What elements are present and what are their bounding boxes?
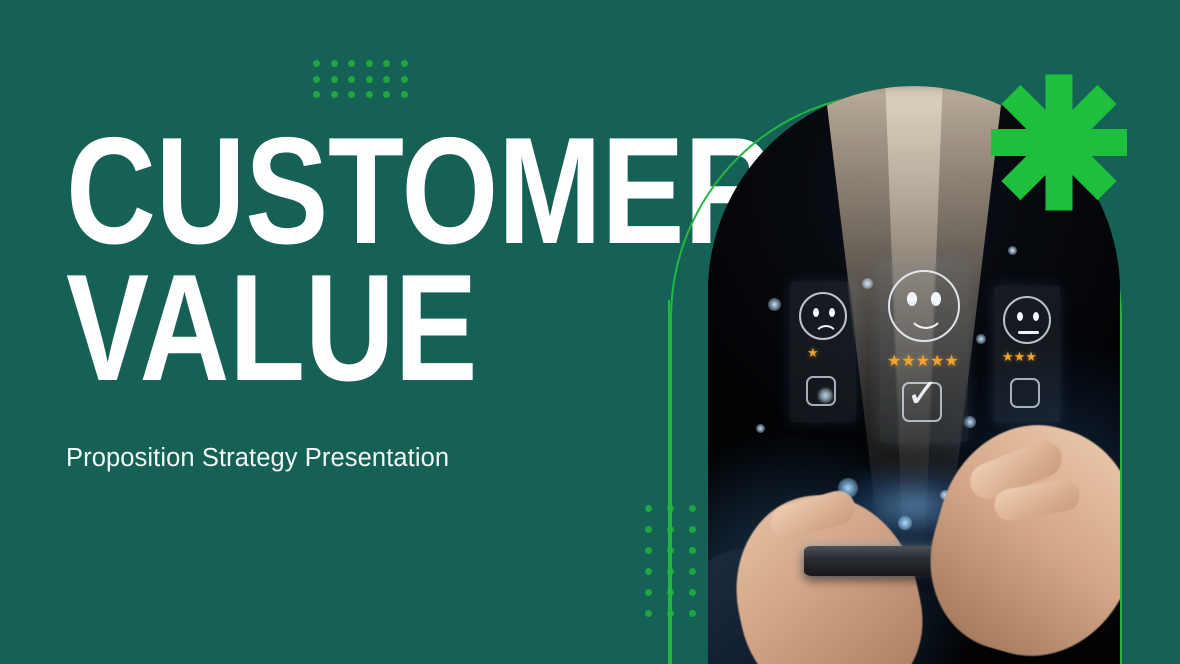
dot xyxy=(383,60,390,67)
dot xyxy=(331,76,338,83)
eye xyxy=(1033,312,1039,321)
presentation-slide: CUSTOMER VALUE Proposition Strategy Pres… xyxy=(0,0,1180,664)
dot xyxy=(401,76,408,83)
rating-card-neutral: ★★★ xyxy=(994,286,1060,422)
check-icon: ✓ xyxy=(906,374,940,414)
bokeh-particle xyxy=(862,278,873,289)
star-icon: ★★★ xyxy=(1002,350,1037,363)
checkbox-empty[interactable] xyxy=(1010,378,1040,408)
right-hand xyxy=(908,403,1120,664)
dot xyxy=(383,91,390,98)
dot xyxy=(331,60,338,67)
dot xyxy=(348,91,355,98)
dot xyxy=(366,91,373,98)
dot xyxy=(313,76,320,83)
eye xyxy=(907,292,917,306)
dot xyxy=(645,505,652,512)
bokeh-particle xyxy=(1008,246,1017,255)
bokeh-particle xyxy=(976,334,986,344)
eye xyxy=(813,308,819,317)
dot xyxy=(313,91,320,98)
subtitle: Proposition Strategy Presentation xyxy=(66,444,449,473)
title-line-2: VALUE xyxy=(66,263,574,394)
eye xyxy=(829,308,835,317)
mouth-smile xyxy=(908,308,944,329)
dot xyxy=(348,60,355,67)
dot xyxy=(645,589,652,596)
dot-grid-top xyxy=(313,60,418,107)
star-rating-1: ★ xyxy=(807,346,819,359)
star-rating-5: ★★★★★ xyxy=(887,354,959,370)
asterisk-icon xyxy=(989,72,1129,212)
dot xyxy=(383,76,390,83)
sad-face-icon xyxy=(799,292,847,340)
page-title: CUSTOMER VALUE xyxy=(66,126,686,393)
dot xyxy=(645,568,652,575)
star-rating-3: ★★★ xyxy=(1002,350,1037,363)
dot xyxy=(366,76,373,83)
checkbox-empty[interactable] xyxy=(806,376,836,406)
eye xyxy=(1017,312,1023,321)
dot xyxy=(645,526,652,533)
dot xyxy=(401,91,408,98)
dot xyxy=(313,60,320,67)
dot xyxy=(645,610,652,617)
title-line-1: CUSTOMER xyxy=(66,126,574,257)
mouth-flat xyxy=(1018,331,1039,334)
happy-face-icon xyxy=(888,270,960,342)
dot xyxy=(645,547,652,554)
neutral-face-icon xyxy=(1003,296,1051,344)
bokeh-particle xyxy=(768,298,781,311)
dot xyxy=(348,76,355,83)
star-icon: ★★★★★ xyxy=(887,354,959,370)
dot xyxy=(401,60,408,67)
hands-holding-phone xyxy=(708,414,1120,664)
dot xyxy=(366,60,373,67)
vertical-accent-line xyxy=(668,300,670,664)
dot xyxy=(331,91,338,98)
eye xyxy=(931,292,941,306)
star-icon: ★ xyxy=(807,346,819,359)
mouth-frown xyxy=(814,325,838,339)
rating-card-sad: ★ xyxy=(790,282,856,422)
